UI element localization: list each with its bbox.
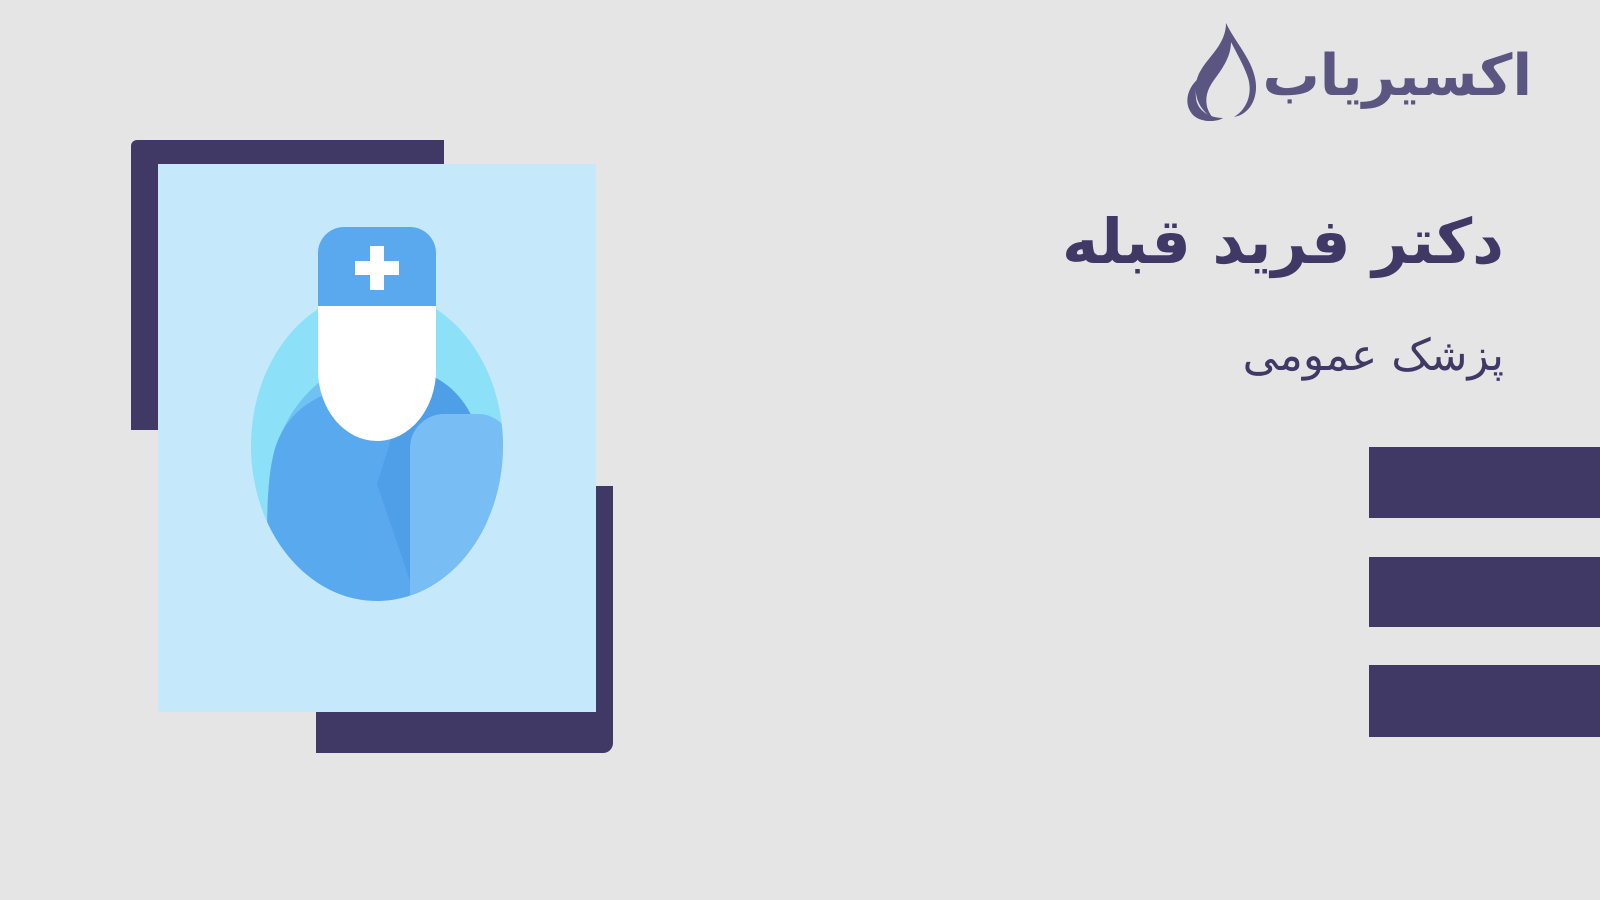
avatar-arm xyxy=(410,414,512,634)
doctor-avatar-icon xyxy=(158,164,596,712)
doctor-name: دکتر فرید قبله xyxy=(1062,206,1504,277)
brand-logo[interactable]: اکسیریاب xyxy=(1179,22,1533,122)
banner-root: اکسیریاب دکتر فرید قبله پزشک عمومی xyxy=(0,0,1600,900)
decorative-bar-2 xyxy=(1369,557,1600,627)
doctor-photo-card xyxy=(158,164,596,712)
doctor-specialty: پزشک عمومی xyxy=(1243,330,1504,383)
decorative-bar-1 xyxy=(1369,447,1600,518)
doctor-illustration-group xyxy=(0,0,700,900)
flame-drop-icon xyxy=(1179,22,1257,122)
brand-wordmark: اکسیریاب xyxy=(1263,48,1533,105)
decorative-bar-3 xyxy=(1369,665,1600,737)
